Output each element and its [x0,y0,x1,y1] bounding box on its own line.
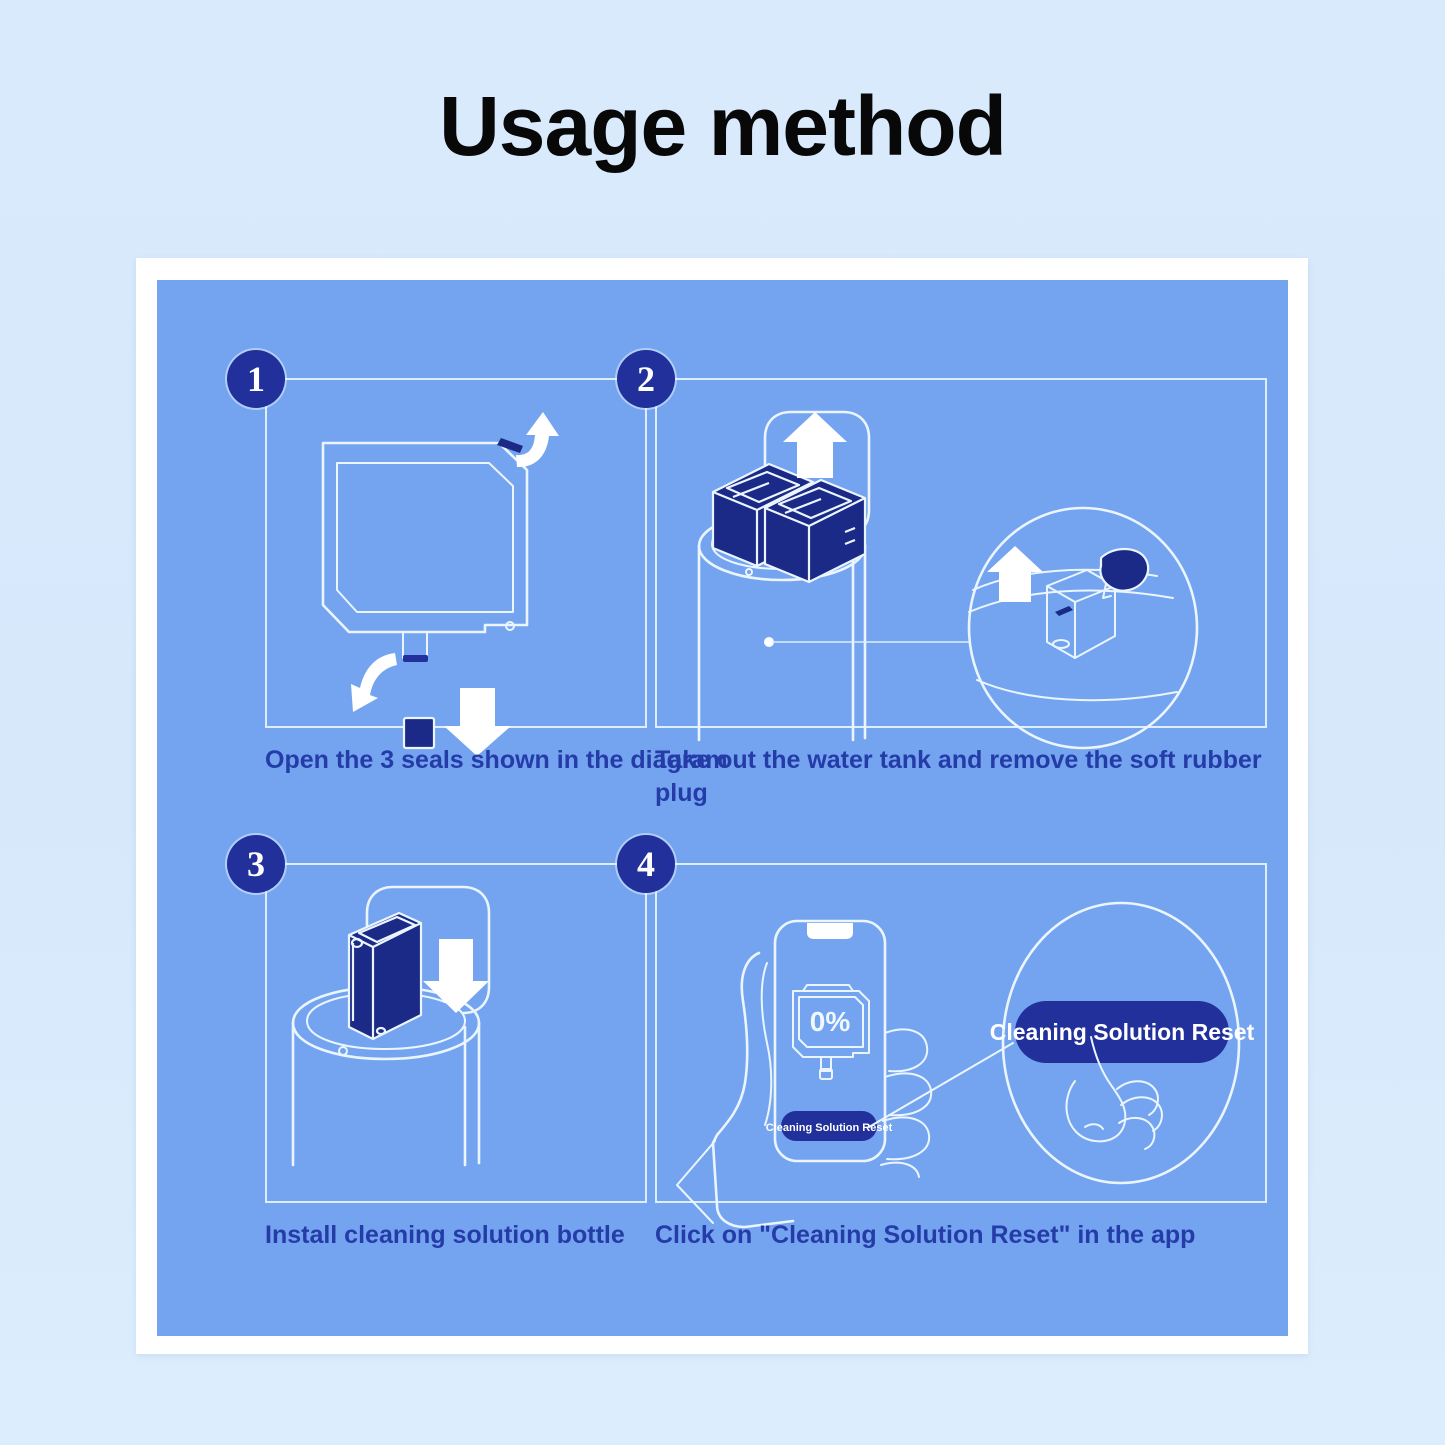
phone-reset-button: Cleaning Solution Reset [766,1111,893,1141]
step-3-number-badge: 3 [227,835,285,893]
cleaning-solution-bottle [349,913,421,1039]
step-3: 3 [227,835,647,1250]
step-2-number-badge: 2 [617,350,675,408]
step-2-diagram [617,350,1277,780]
arrow-up-icon-main [783,412,847,478]
callout-line [869,1043,1013,1127]
arrow-up-right-icon [516,412,559,467]
white-frame: 1 [136,258,1308,1354]
arrow-down-left-icon [351,653,397,712]
hand-outline [677,953,931,1227]
step-4-diagram: 0% Cleaning Solution Reset Cleaning Solu… [617,835,1277,1250]
poster-root: Usage method 1 [0,0,1445,1445]
page-title: Usage method [0,78,1445,175]
arrow-down-icon [423,939,489,1013]
phone-tank-graphic: 0% [793,985,869,1079]
step-2: 2 [617,350,1277,780]
step-3-diagram [227,835,647,1250]
step-4-caption: Click on "Cleaning Solution Reset" in th… [655,1219,1295,1252]
magnified-reset-button-label: Cleaning Solution Reset [990,1019,1255,1045]
step-1-number-badge: 1 [227,350,285,408]
tank-level-text: 0% [810,1006,851,1037]
step-1: 1 [227,350,647,780]
step-1-diagram [227,350,647,780]
instruction-board: 1 [157,280,1288,1336]
magnifier-circle [969,508,1197,748]
step-4: 4 [617,835,1277,1250]
water-tanks [713,464,865,582]
step-2-caption: Take out the water tank and remove the s… [655,744,1295,810]
magnifier-circle: Cleaning Solution Reset [990,903,1255,1183]
step-4-number-badge: 4 [617,835,675,893]
